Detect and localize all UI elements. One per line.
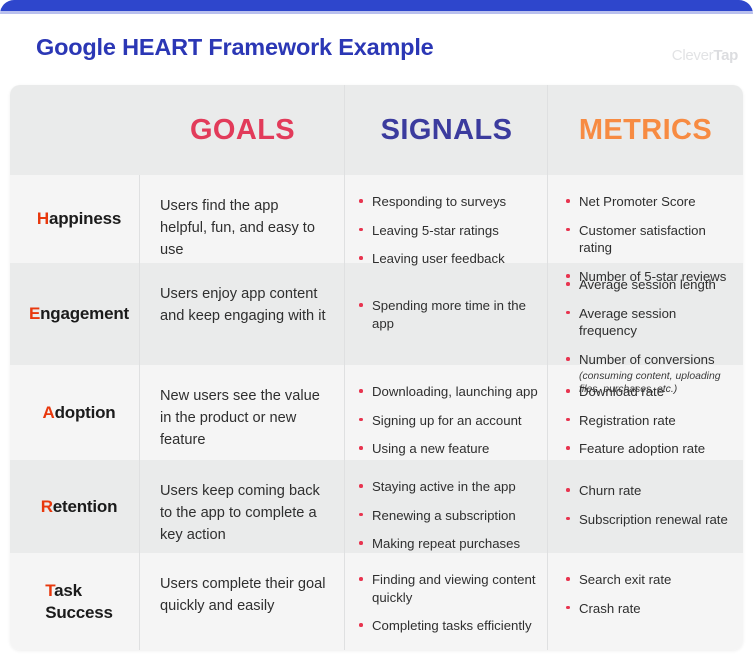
table-row: TaskSuccess Users complete their goal qu… <box>10 553 743 650</box>
goal-cell-adoption: New users see the value in the product o… <box>140 365 345 460</box>
list-item-text: Average session frequency <box>579 306 676 339</box>
list-item-text: Average session length <box>579 277 716 292</box>
signals-list: Staying active in the app Renewing a sub… <box>345 460 548 567</box>
list-item: Leaving 5-star ratings <box>359 222 540 240</box>
list-item-text: Completing tasks efficiently <box>372 618 532 633</box>
page-title: Google HEART Framework Example <box>36 34 434 61</box>
logo-text-tap: Tap <box>713 47 738 64</box>
list-item: Registration rate <box>566 412 735 430</box>
row-label-engagement: Engagement <box>10 263 140 365</box>
list-item-text: Making repeat purchases <box>372 536 520 551</box>
list-item-text: Spending more time in the app <box>372 298 526 331</box>
goal-cell-engagement: Users enjoy app content and keep engagin… <box>140 263 345 365</box>
column-header-goals: GOALS <box>140 85 345 175</box>
signals-list: Spending more time in the app <box>345 263 548 346</box>
goal-text: Users complete their goal quickly and ea… <box>140 553 345 633</box>
row-label-task-success: TaskSuccess <box>10 553 140 650</box>
list-item: Responding to surveys <box>359 193 540 211</box>
list-item: Net Promoter Score <box>566 193 735 211</box>
list-item: Making repeat purchases <box>359 535 540 553</box>
row-label-text: Happiness <box>37 209 121 229</box>
table-row: Adoption New users see the value in the … <box>10 365 743 460</box>
metrics-cell-task-success: Search exit rate Crash rate <box>548 553 743 650</box>
signals-list: Downloading, launching app Signing up fo… <box>345 365 548 472</box>
list-item: Subscription renewal rate <box>566 511 735 529</box>
list-item-text: Finding and viewing content quickly <box>372 572 536 605</box>
row-label-cell-happiness: Happiness <box>10 175 140 263</box>
metrics-list: Download rate Registration rate Feature … <box>548 365 743 472</box>
list-item: Average session length <box>566 276 735 294</box>
header-cell-goals: GOALS <box>140 85 345 175</box>
list-item-text: Responding to surveys <box>372 194 506 209</box>
list-item-text: Download rate <box>579 384 664 399</box>
list-item-text: Signing up for an account <box>372 413 522 428</box>
row-label-happiness: Happiness <box>10 175 140 263</box>
goal-cell-task-success: Users complete their goal quickly and ea… <box>140 553 345 650</box>
header-cell-metrics: METRICS <box>548 85 743 175</box>
row-label-text: TaskSuccess <box>45 580 113 624</box>
goal-text: New users see the value in the product o… <box>140 365 345 468</box>
list-item-text: Renewing a subscription <box>372 508 516 523</box>
table-row: Engagement Users enjoy app content and k… <box>10 263 743 365</box>
goal-text: Users keep coming back to the app to com… <box>140 460 345 563</box>
column-header-signals: SIGNALS <box>345 85 548 175</box>
list-item: Using a new feature <box>359 440 544 458</box>
heart-framework-page: Google HEART Framework Example CleverTap… <box>0 0 753 665</box>
row-label-cell-adoption: Adoption <box>10 365 140 460</box>
logo-text-clever: Clever <box>672 47 714 64</box>
list-item: Finding and viewing content quickly <box>359 571 544 606</box>
list-item: Signing up for an account <box>359 412 544 430</box>
goal-cell-happiness: Users find the app helpful, fun, and eas… <box>140 175 345 263</box>
list-item-text: Customer satisfaction rating <box>579 223 706 256</box>
signals-cell-happiness: Responding to surveys Leaving 5-star rat… <box>345 175 548 263</box>
list-item: Crash rate <box>566 600 735 618</box>
list-item: Renewing a subscription <box>359 507 540 525</box>
table-row: Happiness Users find the app helpful, fu… <box>10 175 743 263</box>
list-item-text: Leaving 5-star ratings <box>372 223 499 238</box>
signals-list: Finding and viewing content quickly Comp… <box>345 553 548 649</box>
list-item-text: Churn rate <box>579 483 641 498</box>
row-label-text: Adoption <box>43 403 116 423</box>
row-label-retention: Retention <box>10 460 140 553</box>
metrics-list: Search exit rate Crash rate <box>548 553 743 631</box>
table-header-row: GOALS SIGNALS METRICS <box>10 85 743 175</box>
row-label-adoption: Adoption <box>10 365 140 460</box>
list-item-text: Downloading, launching app <box>372 384 538 399</box>
goal-cell-retention: Users keep coming back to the app to com… <box>140 460 345 553</box>
metrics-cell-engagement: Average session length Average session f… <box>548 263 743 365</box>
row-label-cell-task-success: TaskSuccess <box>10 553 140 650</box>
list-item-text: Feature adoption rate <box>579 441 705 456</box>
metrics-cell-retention: Churn rate Subscription renewal rate <box>548 460 743 553</box>
list-item: Average session frequency <box>566 305 735 340</box>
list-item: Customer satisfaction rating <box>566 222 735 257</box>
metrics-cell-adoption: Download rate Registration rate Feature … <box>548 365 743 460</box>
list-item: Completing tasks efficiently <box>359 617 544 635</box>
list-item-text: Registration rate <box>579 413 676 428</box>
list-item: Spending more time in the app <box>359 297 540 332</box>
list-item-text: Net Promoter Score <box>579 194 696 209</box>
list-item-text: Subscription renewal rate <box>579 512 728 527</box>
list-item: Feature adoption rate <box>566 440 735 458</box>
list-item-text: Staying active in the app <box>372 479 516 494</box>
signals-cell-retention: Staying active in the app Renewing a sub… <box>345 460 548 553</box>
signals-cell-task-success: Finding and viewing content quickly Comp… <box>345 553 548 650</box>
clevertap-logo: CleverTap <box>672 47 738 64</box>
list-item: Downloading, launching app <box>359 383 544 401</box>
list-item: Search exit rate <box>566 571 735 589</box>
metrics-list: Churn rate Subscription renewal rate <box>548 460 743 542</box>
row-label-text: Retention <box>41 497 118 517</box>
list-item: Download rate <box>566 383 735 401</box>
goal-text: Users enjoy app content and keep engagin… <box>140 263 345 343</box>
top-accent-bar <box>0 0 753 11</box>
table-row: Retention Users keep coming back to the … <box>10 460 743 553</box>
column-header-metrics: METRICS <box>548 85 743 175</box>
list-item: Staying active in the app <box>359 478 540 496</box>
signals-cell-adoption: Downloading, launching app Signing up fo… <box>345 365 548 460</box>
list-item: Churn rate <box>566 482 735 500</box>
list-item-text: Crash rate <box>579 601 641 616</box>
list-item-text: Search exit rate <box>579 572 671 587</box>
heart-framework-table: GOALS SIGNALS METRICS Happiness Users fi… <box>10 85 743 650</box>
header-cell-signals: SIGNALS <box>345 85 548 175</box>
page-header: Google HEART Framework Example CleverTap <box>0 14 753 85</box>
row-label-text: Engagement <box>29 304 129 324</box>
row-label-cell-engagement: Engagement <box>10 263 140 365</box>
row-label-cell-retention: Retention <box>10 460 140 553</box>
list-item-text: Using a new feature <box>372 441 489 456</box>
signals-cell-engagement: Spending more time in the app <box>345 263 548 365</box>
metrics-cell-happiness: Net Promoter Score Customer satisfaction… <box>548 175 743 263</box>
